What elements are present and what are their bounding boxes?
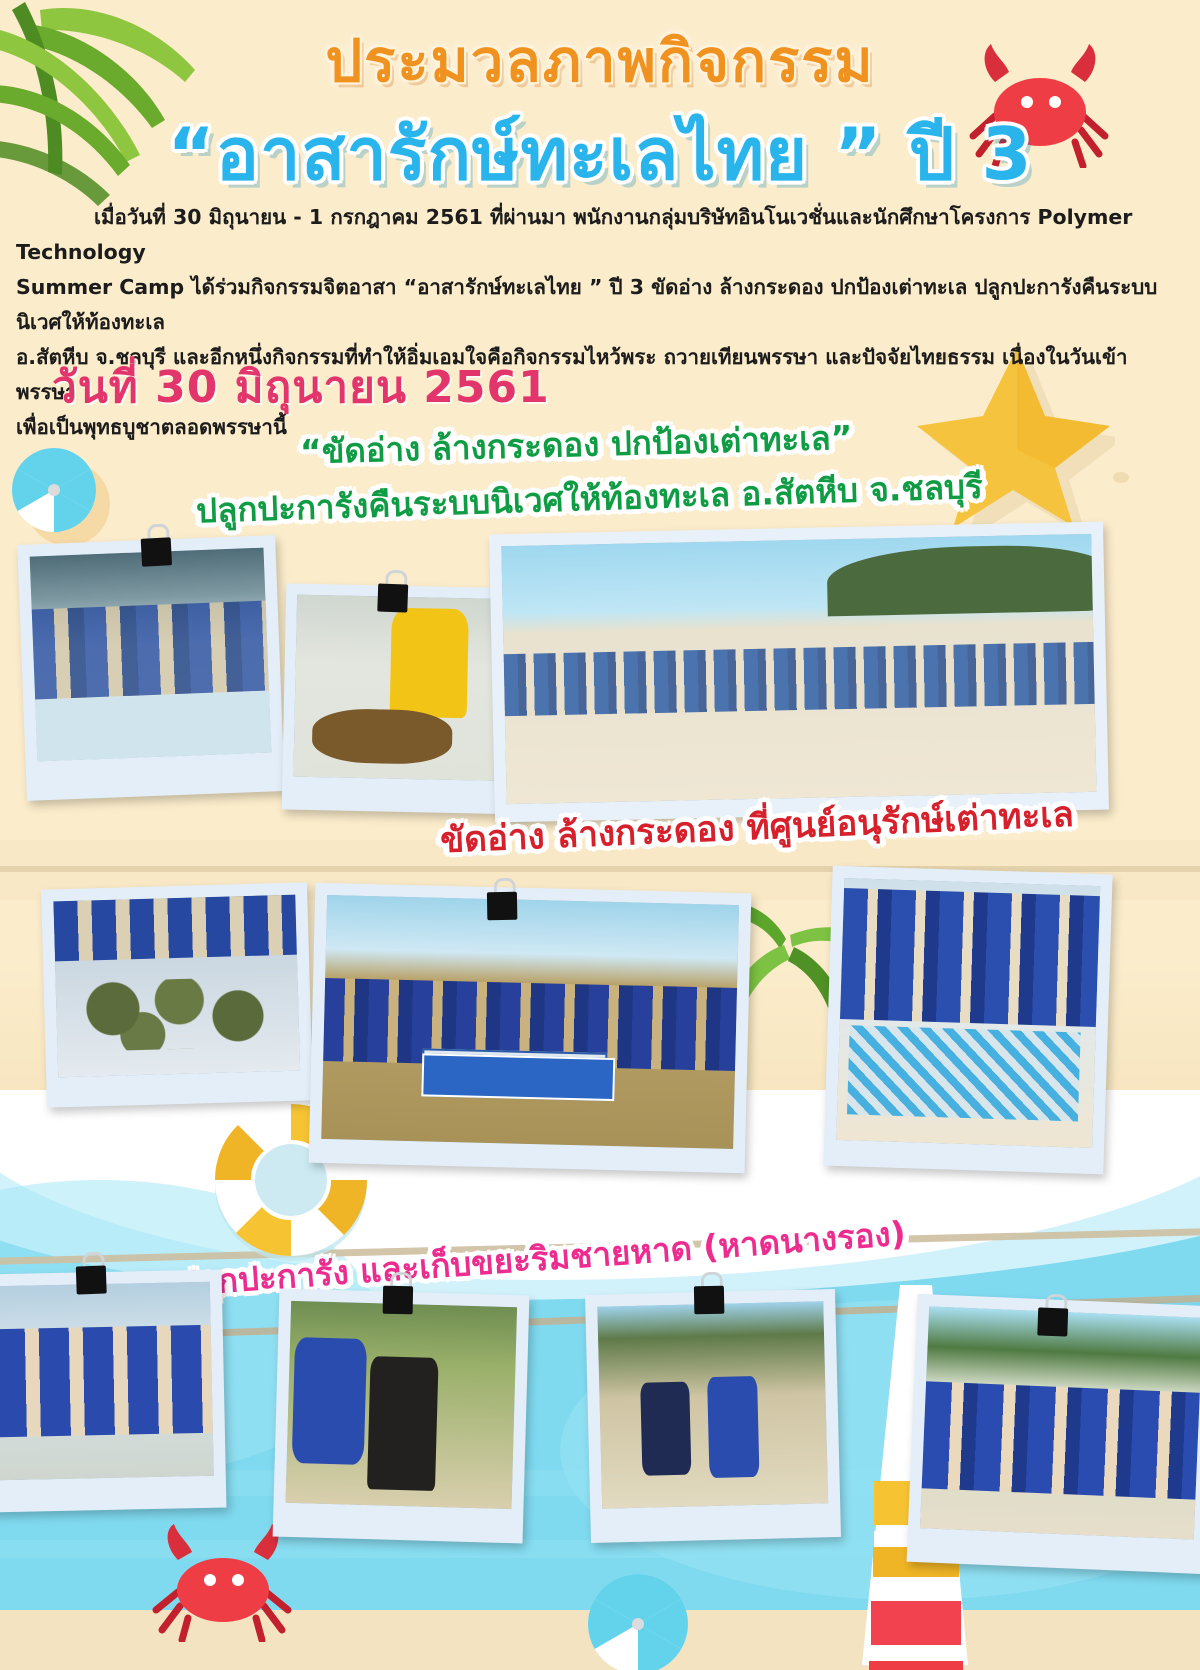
crab-icon <box>148 1522 298 1642</box>
poster-title-line1: ประมวลภาพกิจกรรม <box>0 14 1200 107</box>
photo-beach-cleanup <box>597 1301 828 1508</box>
poster-title-line2: “อาสารักษ์ทะเลไทย ” ปี 3 <box>0 96 1200 211</box>
photo-frame-trash-bag-collection[interactable] <box>273 1289 530 1544</box>
beach-ball-icon <box>12 448 96 532</box>
photo-turtle-tank-wash <box>30 548 272 762</box>
photo-frame-turtle-tank-wash[interactable] <box>17 535 285 801</box>
photo-clip-icon <box>487 878 518 921</box>
photo-trash-bag-collection <box>286 1301 518 1509</box>
photo-beach-group-coral-frames <box>501 534 1096 804</box>
photo-frame-coral-frame-assembly[interactable] <box>823 866 1112 1175</box>
photo-clip-icon <box>140 523 172 567</box>
photo-clip-icon <box>75 1251 106 1294</box>
photo-frame-beach-group[interactable] <box>489 522 1109 823</box>
beach-ball-icon <box>588 1574 688 1670</box>
photo-clip-icon <box>377 569 408 612</box>
photo-clip-icon <box>383 1272 414 1315</box>
photo-clip-icon <box>694 1272 725 1315</box>
paragraph-line-1: เมื่อวันที่ 30 มิถุนายน - 1 กรกฎาคม 2561… <box>16 200 1184 270</box>
photo-frame-volunteers-with-turtles[interactable] <box>41 882 313 1107</box>
photo-group-banner-field <box>321 895 739 1149</box>
date-heading: วันที่ 30 มิถุนายน 2561 <box>52 352 550 422</box>
photo-volunteers-with-turtles <box>53 895 300 1078</box>
photo-shell-cleaning <box>293 595 523 782</box>
photo-frame-group-banner-field[interactable] <box>309 883 752 1174</box>
photo-coral-frame-assembly <box>836 878 1100 1148</box>
poster-root: ประมวลภาพกิจกรรม “อาสารักษ์ทะเลไทย ” ปี … <box>0 0 1200 1670</box>
photo-group-on-beach <box>920 1306 1200 1539</box>
photo-frame-beach-cleanup[interactable] <box>585 1289 841 1543</box>
sand-dot <box>1113 472 1129 483</box>
photo-frame-selfie-volunteers[interactable] <box>0 1270 226 1513</box>
paragraph-line-2: Summer Camp ได้ร่วมกิจกรรมจิตอาสา “อาสาร… <box>16 270 1184 340</box>
photo-selfie-volunteers <box>0 1282 214 1480</box>
photo-clip-icon <box>1037 1293 1068 1336</box>
activity-banner <box>421 1054 616 1102</box>
